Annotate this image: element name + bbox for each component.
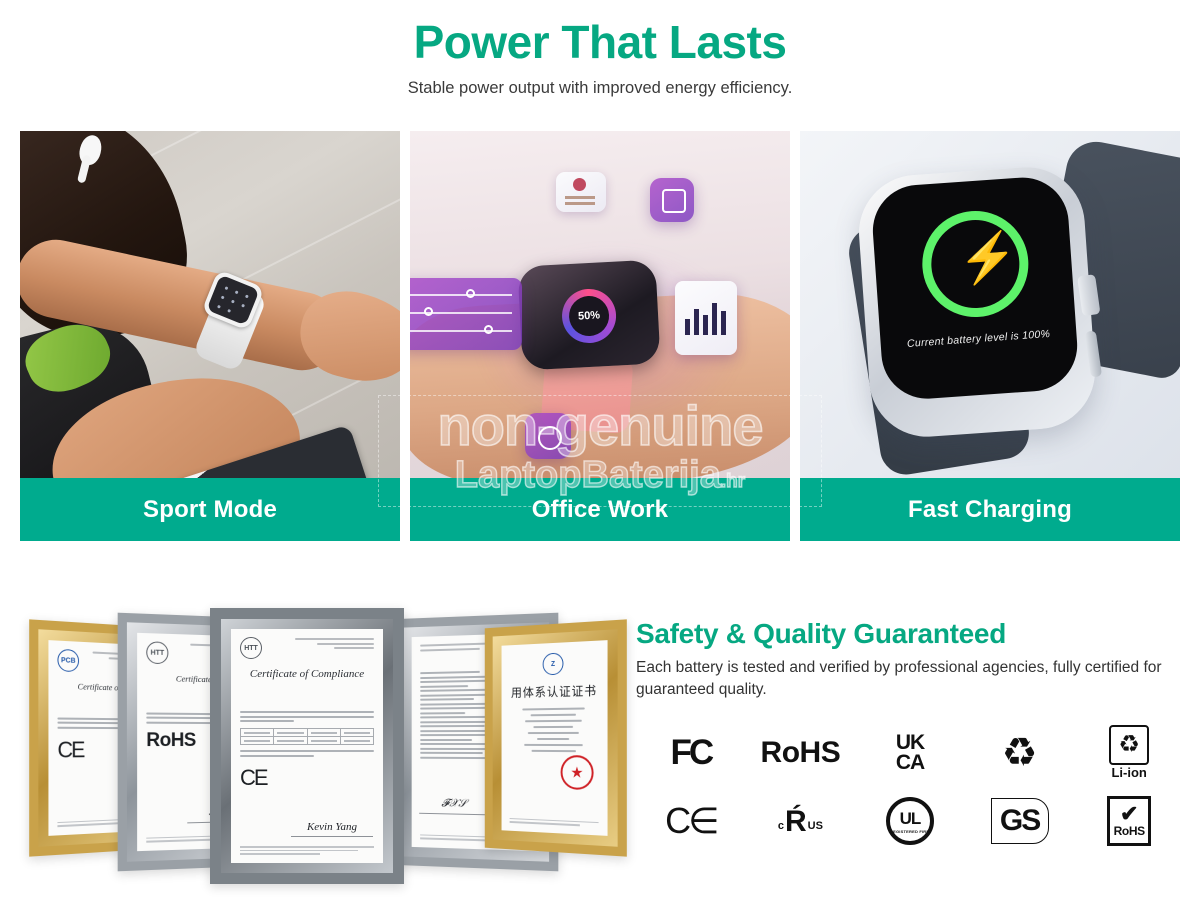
feature-panel-office-work[interactable]: 50% Office Work (410, 131, 790, 541)
contact-card-icon (556, 172, 606, 212)
feature-panel-sport-mode[interactable]: Sport Mode (20, 131, 400, 541)
li-ion-label: Li-ion (1111, 765, 1146, 780)
panel-label-office-work: Office Work (410, 478, 790, 541)
rohs-check-label: RoHS (1114, 824, 1145, 838)
rohs-check-badge: ✔ RoHS (1074, 796, 1184, 846)
gs-label: GS (991, 798, 1049, 844)
check-icon: ✔ (1120, 804, 1138, 824)
z-logo-5: Z (543, 653, 564, 676)
watch-percent-label: 50% (578, 309, 601, 322)
gs-badge: GS (965, 798, 1075, 844)
checkbox-card-icon (650, 178, 694, 222)
c-ul-us-prefix: c (778, 820, 784, 835)
c-ul-us-suffix: US (808, 820, 823, 835)
certificate-signature-3: Kevin Yang (291, 821, 373, 837)
safety-quality-section: Safety & Quality Guaranteed Each battery… (636, 618, 1184, 855)
camera-card-icon (525, 413, 571, 459)
certificate-fields-3 (240, 688, 374, 706)
feature-panels: Sport Mode 50% (20, 131, 1180, 541)
badge-row-2: C∈ c Ŕ US UL REGISTERED FIRM GS (636, 787, 1184, 855)
certificate-frame-5[interactable]: Z 用体系认证证书 ★ (485, 619, 627, 856)
battery-level-text: Current battery level is 100% (880, 326, 1076, 352)
page-subtitle: Stable power output with improved energy… (0, 79, 1200, 98)
smartwatch-icon: 50% (517, 259, 660, 370)
safety-description: Each battery is tested and verified by p… (636, 657, 1184, 701)
ce-badge-label: C∈ (665, 800, 716, 842)
panel-label-sport-mode: Sport Mode (20, 478, 400, 541)
ce-badge: C∈ (636, 800, 746, 842)
ukca-line2: CA (896, 753, 924, 773)
recycle-icon: ♻ (1002, 733, 1038, 773)
safety-title: Safety & Quality Guaranteed (636, 618, 1184, 650)
charging-ring-icon (919, 207, 1032, 320)
certificate-frame-3[interactable]: HTT Certificate of Compliance (210, 608, 404, 884)
ul-label: UL (900, 809, 921, 829)
certificate-gallery: PCB Certificate of C CE ◎ (10, 600, 622, 888)
htt-logo-3: HTT (240, 637, 262, 659)
sport-mode-photo (20, 131, 400, 478)
panel-label-fast-charging: Fast Charging (800, 478, 1180, 541)
ukca-badge: UK CA (855, 733, 965, 772)
battery-ring: 50% (561, 288, 618, 345)
ce-mark-3: CE (240, 765, 374, 791)
red-star-stamp-5: ★ (561, 755, 594, 790)
c-ul-us-badge: c Ŕ US (746, 808, 856, 835)
fcc-badge: FC (636, 733, 746, 773)
rohs-badge-label: RoHS (761, 736, 841, 770)
office-work-photo: 50% (410, 131, 790, 478)
chart-card-icon (675, 281, 737, 355)
pcb-logo: PCB (57, 649, 79, 672)
certification-badges: FC RoHS UK CA ♻ ♻ Li-ion (636, 719, 1184, 855)
page-title: Power That Lasts (0, 18, 1200, 66)
certificate-title-5: 用体系认证证书 (510, 682, 599, 701)
c-ul-us-mark: Ŕ (785, 808, 807, 835)
certificate-title-3: Certificate of Compliance (240, 668, 374, 680)
certificate-table-3 (240, 728, 374, 745)
smartwatch-icon: Current battery level is 100% (855, 163, 1099, 440)
badge-row-1: FC RoHS UK CA ♻ ♻ Li-ion (636, 719, 1184, 787)
ul-recognized-badge: UL REGISTERED FIRM (855, 797, 965, 845)
page-header: Power That Lasts Stable power output wit… (0, 0, 1200, 98)
watch-screen: Current battery level is 100% (870, 175, 1080, 402)
ul-sub-label: REGISTERED FIRM (890, 829, 930, 834)
settings-card-icon (410, 278, 522, 350)
recycle-badge: ♻ (965, 733, 1075, 773)
htt-logo-2: HTT (146, 641, 168, 664)
li-ion-badge: ♻ Li-ion (1074, 725, 1184, 781)
rohs-badge: RoHS (746, 736, 856, 770)
fcc-badge-label: FC (670, 733, 711, 773)
fast-charging-photo: Current battery level is 100% (800, 131, 1180, 478)
feature-panel-fast-charging[interactable]: Current battery level is 100% Fast Charg… (800, 131, 1180, 541)
li-ion-recycle-icon: ♻ (1109, 725, 1149, 765)
